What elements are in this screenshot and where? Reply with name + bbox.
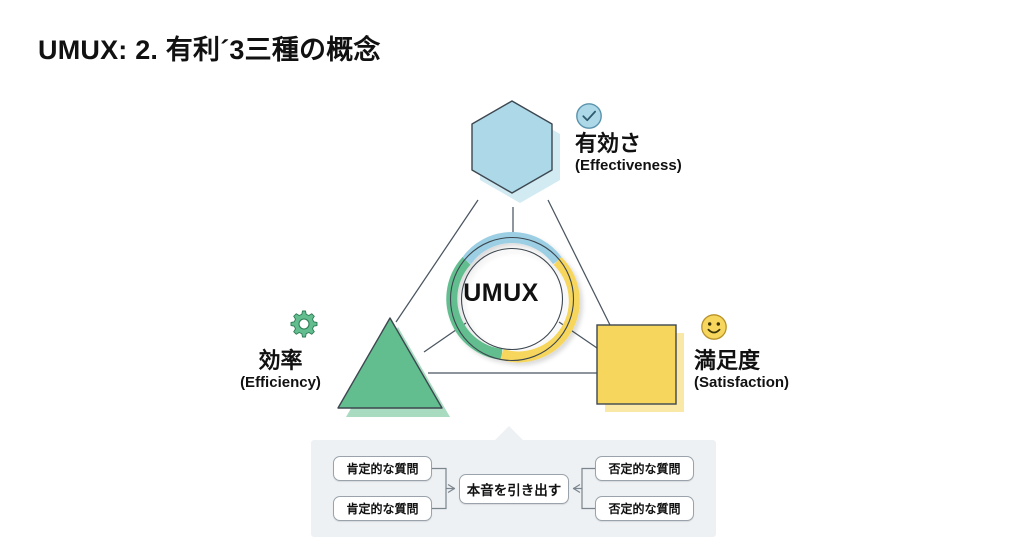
label-effectiveness: 有効さ (Effectiveness) <box>575 132 682 174</box>
connector-neg-2 <box>582 489 595 509</box>
label-effectiveness-en: (Effectiveness) <box>575 157 682 175</box>
negative-question-box-2[interactable]: 否定的な質問 <box>595 496 694 521</box>
ring-segment-effectiveness <box>467 238 558 261</box>
label-efficiency-en: (Efficiency) <box>228 374 333 392</box>
question-flow-panel: 肯定的な質問 肯定的な質問 本音を引き出す 否定的な質問 否定的な質問 <box>311 440 716 537</box>
triangle-shape <box>338 318 442 408</box>
panel-pointer-notch <box>494 426 524 441</box>
label-satisfaction: 満足度 (Satisfaction) <box>694 349 789 391</box>
check-circle-icon <box>577 104 601 128</box>
umux-center-label: UMUX <box>441 279 561 308</box>
connector-neg-1 <box>573 469 595 489</box>
node-efficiency[interactable] <box>338 318 450 417</box>
node-effectiveness[interactable] <box>472 101 560 203</box>
gear-icon <box>291 311 317 337</box>
label-efficiency-jp: 効率 <box>228 349 333 374</box>
question-flow-inner: 肯定的な質問 肯定的な質問 本音を引き出す 否定的な質問 否定的な質問 <box>311 440 716 537</box>
label-effectiveness-jp: 有効さ <box>575 132 682 157</box>
negative-question-box-1[interactable]: 否定的な質問 <box>595 456 694 481</box>
node-satisfaction[interactable] <box>597 325 684 412</box>
center-outcome-box[interactable]: 本音を引き出す <box>459 474 569 504</box>
positive-question-box-1[interactable]: 肯定的な質問 <box>333 456 432 481</box>
label-satisfaction-en: (Satisfaction) <box>694 374 789 392</box>
connector-pos-2 <box>432 489 446 509</box>
connector-pos-1 <box>432 469 455 489</box>
label-satisfaction-jp: 満足度 <box>694 349 789 374</box>
smiley-icon <box>702 315 726 339</box>
positive-question-box-2[interactable]: 肯定的な質問 <box>333 496 432 521</box>
label-efficiency: 効率 (Efficiency) <box>228 349 333 391</box>
square-shape <box>597 325 676 404</box>
